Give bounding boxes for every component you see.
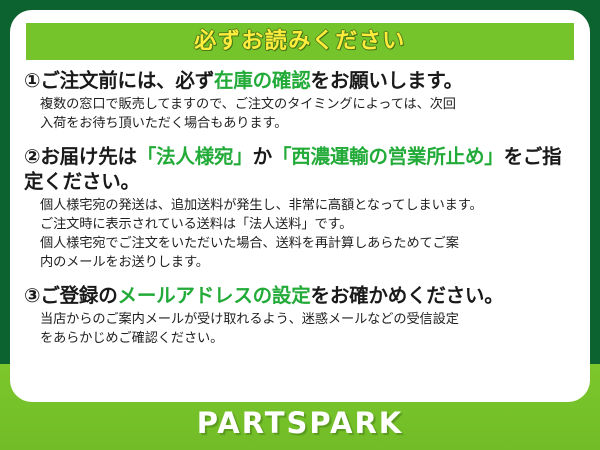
notice-item-2-heading-mid: か (253, 145, 272, 168)
notice-content-card: 必ずお読みください ①ご注文前には、必ず在庫の確認をお願いします。 複数の窓口で… (10, 10, 590, 402)
notice-item-1-body-line-1: 複数の窓口で販売してますので、ご注文のタイミングによっては、次回 (40, 96, 576, 115)
notice-item-1-highlight: 在庫の確認 (214, 69, 311, 92)
notice-item-2-body-line-1: 個人様宅宛の発送は、追加送料が発生し、非常に高額となってしまいます。 (40, 197, 576, 216)
notice-item-2-body-line-3: 個人様宅宛でご注文をいただいた場合、送料を再計算しあらためてご案 (40, 235, 576, 254)
notice-item-2-highlight-1: 「法人様宛」 (137, 145, 253, 168)
notice-item-3-heading-post: をお確かめください。 (311, 284, 504, 307)
notice-item-3-highlight: メールアドレスの設定 (118, 284, 311, 307)
notice-item-3: ③ご登録のメールアドレスの設定をお確かめください。 当店からのご案内メールが受け… (24, 284, 576, 348)
notice-item-1-body-line-2: 入荷をお待ち頂いただく場合もあります。 (40, 115, 576, 134)
notice-item-2-body-line-2: ご注文時に表示されている送料は「法人送料」です。 (40, 216, 576, 235)
notice-item-2-heading: ②お届け先は「法人様宛」か「西濃運輸の営業所止め」をご指定ください。 (24, 145, 576, 195)
notice-item-1-heading-post: をお願いします。 (311, 69, 463, 92)
notice-item-1-number: ① (24, 69, 40, 92)
notice-item-1-heading-pre: ご注文前には、必ず (40, 69, 214, 92)
footer-brand: PARTSPARK (0, 409, 600, 438)
notice-frame: 必ずお読みください ①ご注文前には、必ず在庫の確認をお願いします。 複数の窓口で… (0, 0, 600, 450)
header-banner: 必ずお読みください (26, 23, 574, 60)
notice-item-2-highlight-2: 「西濃運輸の営業所止め」 (272, 145, 504, 168)
notice-item-3-number: ③ (24, 284, 40, 307)
notice-item-2-body-line-4: 内のメールをお送りします。 (40, 254, 576, 273)
notice-item-1-body: 複数の窓口で販売してますので、ご注文のタイミングによっては、次回 入荷をお待ち頂… (40, 96, 576, 133)
notice-item-3-body-line-1: 当店からのご案内メールが受け取れるよう、迷惑メールなどの受信設定 (40, 311, 576, 330)
notice-item-3-body: 当店からのご案内メールが受け取れるよう、迷惑メールなどの受信設定 をあらかじめご… (40, 311, 576, 348)
notice-item-1: ①ご注文前には、必ず在庫の確認をお願いします。 複数の窓口で販売してますので、ご… (24, 69, 576, 133)
notice-item-3-heading: ③ご登録のメールアドレスの設定をお確かめください。 (24, 284, 576, 309)
notice-item-3-body-line-2: をあらかじめご確認ください。 (40, 330, 576, 349)
brand-logo-text: PARTSPARK (197, 409, 404, 438)
notice-item-3-heading-pre: ご登録の (40, 284, 117, 307)
page-title: 必ずお読みください (194, 31, 406, 53)
notice-item-2-number: ② (24, 145, 40, 168)
notice-item-2-body: 個人様宅宛の発送は、追加送料が発生し、非常に高額となってしまいます。 ご注文時に… (40, 197, 576, 272)
notice-item-2: ②お届け先は「法人様宛」か「西濃運輸の営業所止め」をご指定ください。 個人様宅宛… (24, 145, 576, 272)
notice-item-1-heading: ①ご注文前には、必ず在庫の確認をお願いします。 (24, 69, 576, 94)
notice-item-2-heading-pre: お届け先は (40, 145, 137, 168)
